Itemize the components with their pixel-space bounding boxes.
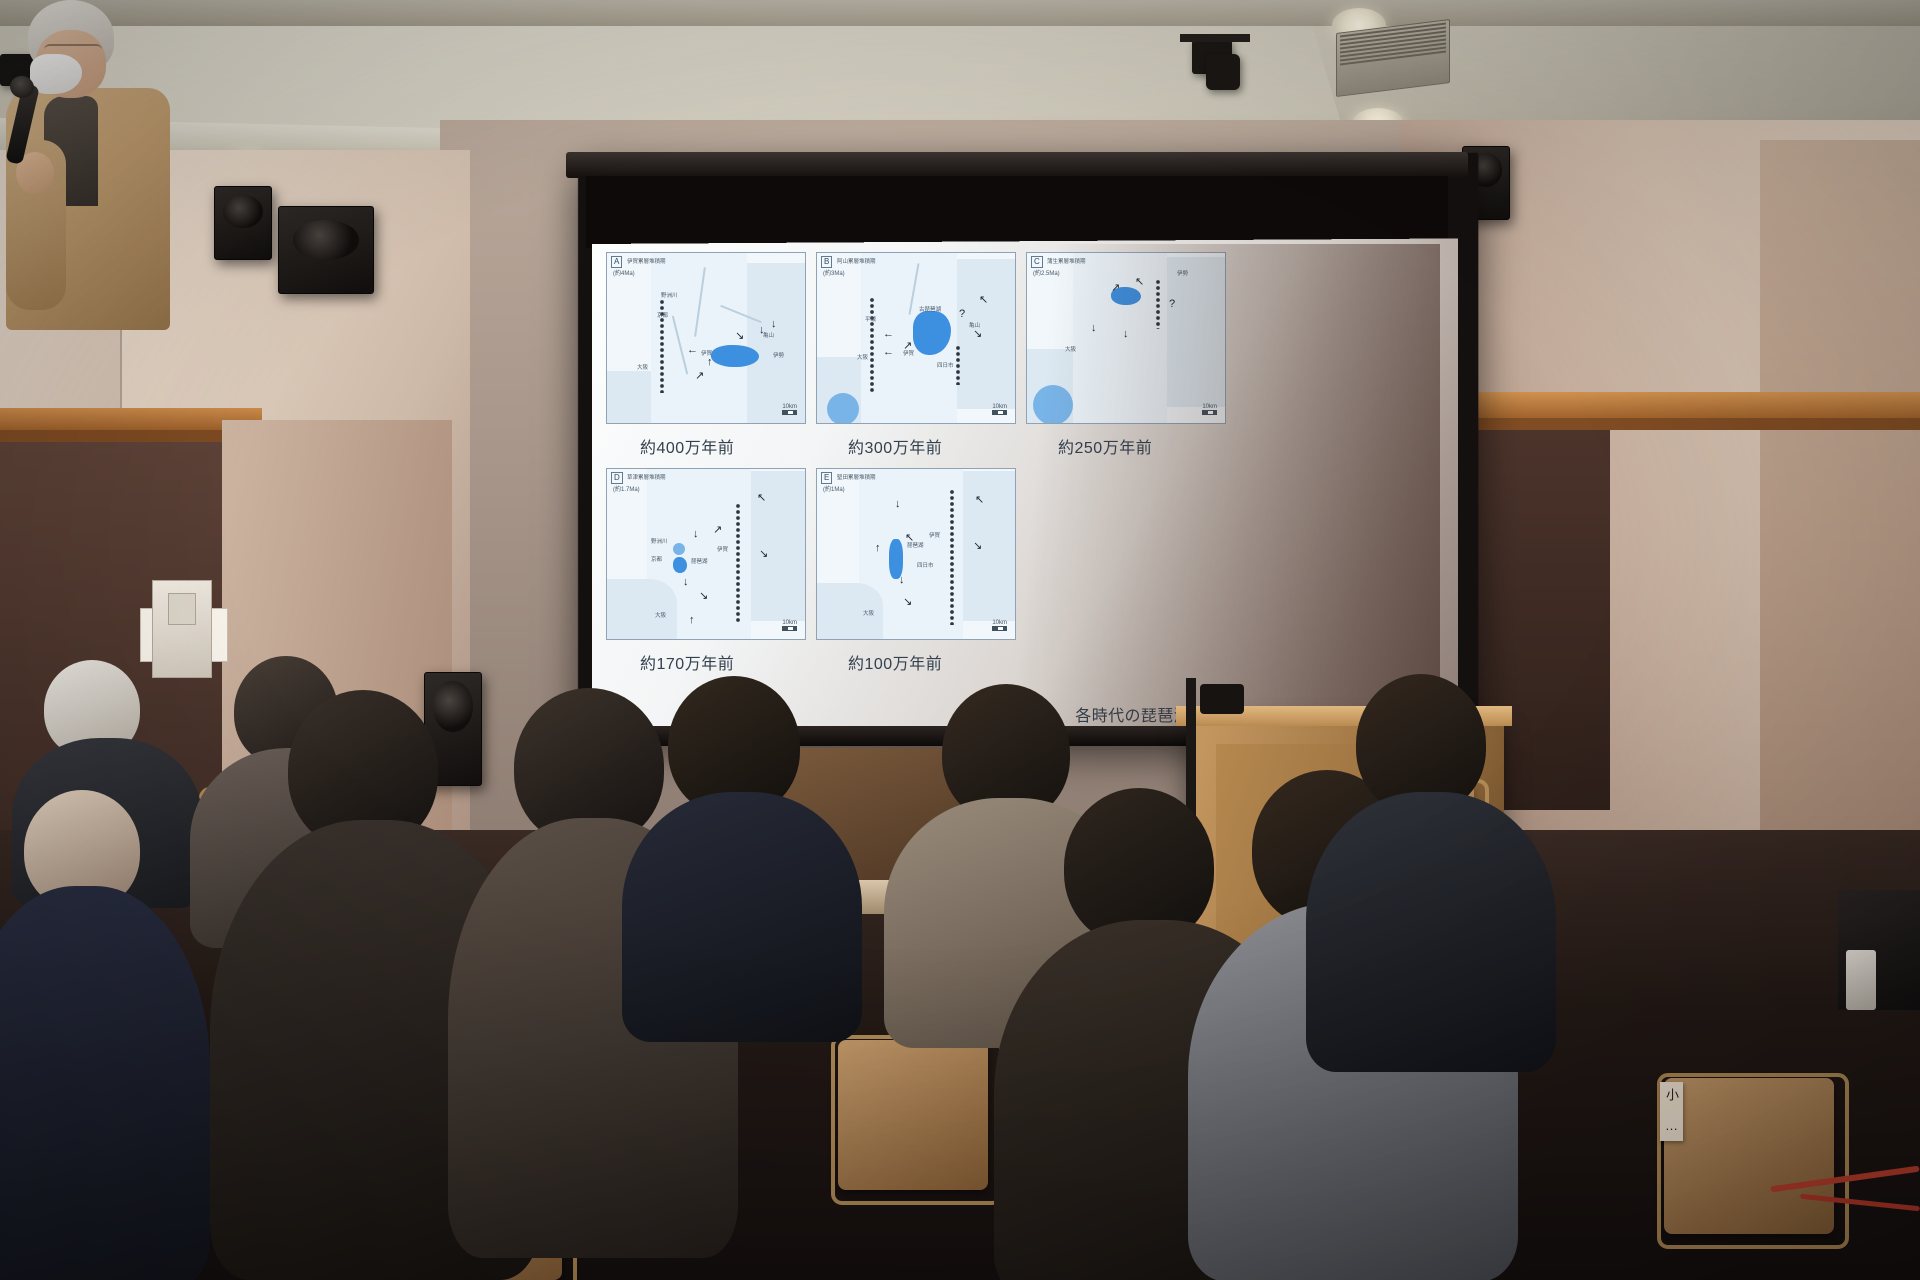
seat-placard: 小 … [1660,1082,1683,1141]
panel-title-c: 蒲生累層堆積期 [1047,257,1086,265]
panel-age-e: (約1Ma) [823,484,845,493]
ceiling-speaker [278,206,374,294]
scale-bar-c: 10km [1202,404,1217,415]
scale-bar-a: 10km [782,404,797,415]
far-right-wall [1760,140,1920,920]
scale-bar-label: 10km [1202,404,1217,410]
panel-badge-c: C [1031,256,1043,268]
panel-badge-e: E [821,472,832,484]
era-caption-c: 約250万年前 [1058,434,1152,458]
scale-bar-d: 10km [782,620,797,631]
era-caption-a: 約400万年前 [640,434,734,458]
panel-title-b: 阿山累層堆積期 [837,257,876,265]
panel-age-b: (約3Ma) [823,268,845,277]
ceiling-beam [0,0,1920,26]
scale-bar-label: 10km [782,404,797,410]
panel-title-d: 草津累層堆積期 [627,473,666,481]
chair [838,1040,988,1190]
era-caption-e: 約100万年前 [848,650,942,674]
era-caption-b: 約300万年前 [848,434,942,458]
era-caption-d: 約170万年前 [640,650,734,674]
screen-black-border [586,176,1448,248]
scale-bar-e: 10km [992,620,1007,631]
ceiling-speaker [214,186,272,260]
scale-bar-label: 10km [782,620,797,626]
scale-bar-label: 10km [992,620,1007,626]
panel-badge-a: A [611,256,622,268]
screen-roller-housing [566,152,1468,178]
panel-title-e: 堅田累層堆積期 [837,473,876,481]
chair [1664,1078,1834,1234]
panel-title-a: 伊賀累層堆積期 [627,257,666,265]
scale-bar-label: 10km [992,404,1007,410]
panel-age-c: (約2.5Ma) [1033,268,1060,277]
av-equipment-panel [1846,950,1876,1010]
mic-head [1200,684,1244,714]
slide-content: ↘ ↓ ↓ ← ↑ ↗ 野洲川 京都 伊賀 亀山 伊勢 大阪 A 伊賀累層堆積期… [598,246,1438,732]
panel-badge-b: B [821,256,832,268]
map-panel-c: ↗ ↖ ? ↓ ↓ 伊勢 大阪 C 蒲生累層堆積期 (約2.5Ma) 10km [1026,252,1226,424]
panel-age-d: (約1.7Ma) [613,484,640,493]
lecture-hall-photo: 非 常 ↘ ↓ ↓ ← ↑ ↗ 野洲川 京都 伊賀 亀山 伊勢 [0,0,1920,1280]
track-light [1206,54,1240,90]
map-panel-d: ↓ ↗ ↓ ↘ ↑ ↖ ↘ 野洲川 京都 琵琶湖 伊賀 大阪 D 草津累層堆積期… [606,468,806,640]
panel-badge-d: D [611,472,623,484]
scale-bar-b: 10km [992,404,1007,415]
wall-outlet [152,580,212,678]
map-panel-b: ↖ ? ← ← ↗ ↘ 古琵琶湖 平城 伊賀 亀山 四日市 大阪 B 阿山累層堆… [816,252,1016,424]
light-track [1180,34,1250,42]
panel-age-a: (約4Ma) [613,268,635,277]
map-panel-e: ↑ ↖ ↓ ↓ ↘ ↖ ↘ 琵琶湖 伊賀 四日市 大阪 E 堅田累層堆積期 (約… [816,468,1016,640]
map-panel-a: ↘ ↓ ↓ ← ↑ ↗ 野洲川 京都 伊賀 亀山 伊勢 大阪 A 伊賀累層堆積期… [606,252,806,424]
